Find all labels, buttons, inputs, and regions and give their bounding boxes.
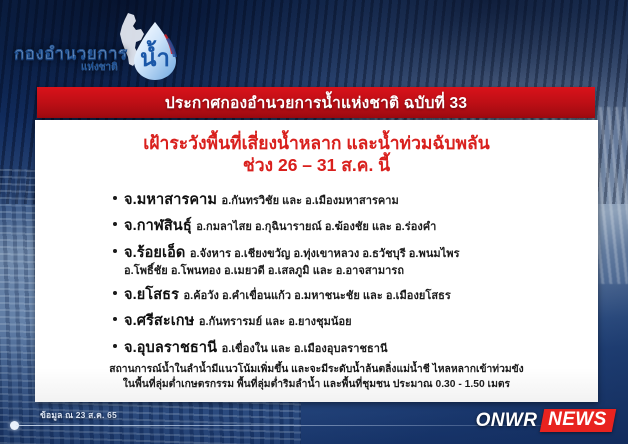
content-card: เฝ้าระวังพื้นที่เสี่ยงน้ำหลาก และน้ำท่วม… bbox=[35, 120, 598, 402]
province-name: จ.ยโสธร bbox=[124, 287, 179, 303]
district-list: อ.จังหาร อ.เชียงขวัญ อ.ทุ่งเขาหลวง อ.ธวั… bbox=[190, 248, 460, 260]
emblem-line1: กองอำนวยการ bbox=[14, 45, 128, 62]
announcement-banner: ประกาศกองอำนวยการน้ำแห่งชาติ ฉบับที่ 33 bbox=[37, 87, 595, 118]
province-name: จ.ร้อยเอ็ด bbox=[124, 245, 185, 261]
situation-note-line2: ในพื้นที่ลุ่มต่ำเกษตรกรรม พื้นที่ลุ่มต่ำ… bbox=[35, 378, 598, 393]
bullet-icon bbox=[113, 196, 117, 200]
province-entry: จ.ยโสธร อ.ค้อวัง อ.คำเขื่อนแก้ว อ.มหาชนะ… bbox=[113, 285, 580, 305]
announcement-title: ประกาศกองอำนวยการน้ำแห่งชาติ ฉบับที่ 33 bbox=[165, 90, 467, 115]
water-drop-icon: น้ำ bbox=[130, 20, 180, 82]
district-list: อ.เขื่องใน และ อ.เมืองอุบลราชธานี bbox=[222, 343, 388, 355]
bullet-icon bbox=[113, 344, 117, 348]
province-name: จ.ศรีสะเกษ bbox=[124, 313, 194, 329]
province-entry: จ.ศรีสะเกษ อ.กันทรารมย์ และ อ.ยางชุมน้อย bbox=[113, 311, 580, 331]
district-list: อ.ค้อวัง อ.คำเขื่อนแก้ว อ.มหาชนะชัย และ … bbox=[183, 290, 450, 302]
logo-accent-text: NEWS bbox=[548, 409, 607, 431]
province-entry: จ.ร้อยเอ็ด อ.จังหาร อ.เชียงขวัญ อ.ทุ่งเข… bbox=[113, 243, 580, 263]
district-list: อ.กันทรวิชัย และ อ.เมืองมหาสารคาม bbox=[222, 195, 399, 207]
province-entry: จ.กาฬสินธุ์ อ.กมลาไสย อ.กุฉินารายณ์ อ.ฆ้… bbox=[113, 216, 580, 236]
situation-note: สถานการณ์น้ำในลำน้ำมีแนวโน้มเพิ่มขึ้น แล… bbox=[35, 363, 598, 393]
list-item: จ.กาฬสินธุ์ อ.กมลาไสย อ.กุฉินารายณ์ อ.ฆ้… bbox=[113, 216, 580, 236]
data-timestamp: ข้อมูล ณ 23 ส.ค. 65 bbox=[40, 408, 117, 422]
list-item: จ.ศรีสะเกษ อ.กันทรารมย์ และ อ.ยางชุมน้อย bbox=[113, 311, 580, 331]
district-list: อ.กันทรารมย์ และ อ.ยางชุมน้อย bbox=[199, 316, 352, 328]
bullet-icon bbox=[113, 222, 117, 226]
onwr-emblem: น้ำ กองอำนวยการ แห่งชาติ bbox=[10, 12, 192, 86]
district-list: อ.กมลาไสย อ.กุฉินารายณ์ อ.ฆ้องชัย และ อ.… bbox=[196, 221, 436, 233]
bullet-icon bbox=[113, 291, 117, 295]
warning-headline-line2: ช่วง 26 – 31 ส.ค. นี้ bbox=[35, 155, 598, 176]
list-item: จ.มหาสารคาม อ.กันทรวิชัย และ อ.เมืองมหาส… bbox=[113, 190, 580, 210]
onwr-news-logo: ONWR NEWS bbox=[476, 409, 614, 432]
situation-note-line1: สถานการณ์น้ำในลำน้ำมีแนวโน้มเพิ่มขึ้น แล… bbox=[35, 363, 598, 378]
bullet-icon bbox=[113, 317, 117, 321]
warning-headline-line1: เฝ้าระวังพื้นที่เสี่ยงน้ำหลาก และน้ำท่วม… bbox=[35, 133, 598, 154]
logo-accent-badge: NEWS bbox=[540, 409, 616, 432]
district-list-continued: อ.โพธิ์ชัย อ.โพนทอง อ.เมยวดี อ.เสลภูมิ แ… bbox=[113, 265, 580, 279]
logo-primary-text: ONWR bbox=[476, 410, 538, 432]
bullet-icon bbox=[113, 249, 117, 253]
list-item: จ.ร้อยเอ็ด อ.จังหาร อ.เชียงขวัญ อ.ทุ่งเข… bbox=[113, 243, 580, 279]
province-entry: จ.อุบลราชธานี อ.เขื่องใน และ อ.เมืองอุบล… bbox=[113, 338, 580, 358]
list-item: จ.อุบลราชธานี อ.เขื่องใน และ อ.เมืองอุบล… bbox=[113, 338, 580, 358]
emblem-wordmark: กองอำนวยการ แห่งชาติ bbox=[14, 45, 128, 73]
infographic-poster: น้ำ กองอำนวยการ แห่งชาติ ประกาศกองอำนวยก… bbox=[0, 0, 628, 444]
list-item: จ.ยโสธร อ.ค้อวัง อ.คำเขื่อนแก้ว อ.มหาชนะ… bbox=[113, 285, 580, 305]
province-name: จ.มหาสารคาม bbox=[124, 192, 217, 208]
warning-headline: เฝ้าระวังพื้นที่เสี่ยงน้ำหลาก และน้ำท่วม… bbox=[35, 120, 598, 177]
province-name: จ.กาฬสินธุ์ bbox=[124, 218, 192, 234]
province-entry: จ.มหาสารคาม อ.กันทรวิชัย และ อ.เมืองมหาส… bbox=[113, 190, 580, 210]
province-name: จ.อุบลราชธานี bbox=[124, 340, 217, 356]
emblem-line2: แห่งชาติ bbox=[14, 63, 128, 73]
province-list: จ.มหาสารคาม อ.กันทรวิชัย และ อ.เมืองมหาส… bbox=[35, 190, 598, 358]
